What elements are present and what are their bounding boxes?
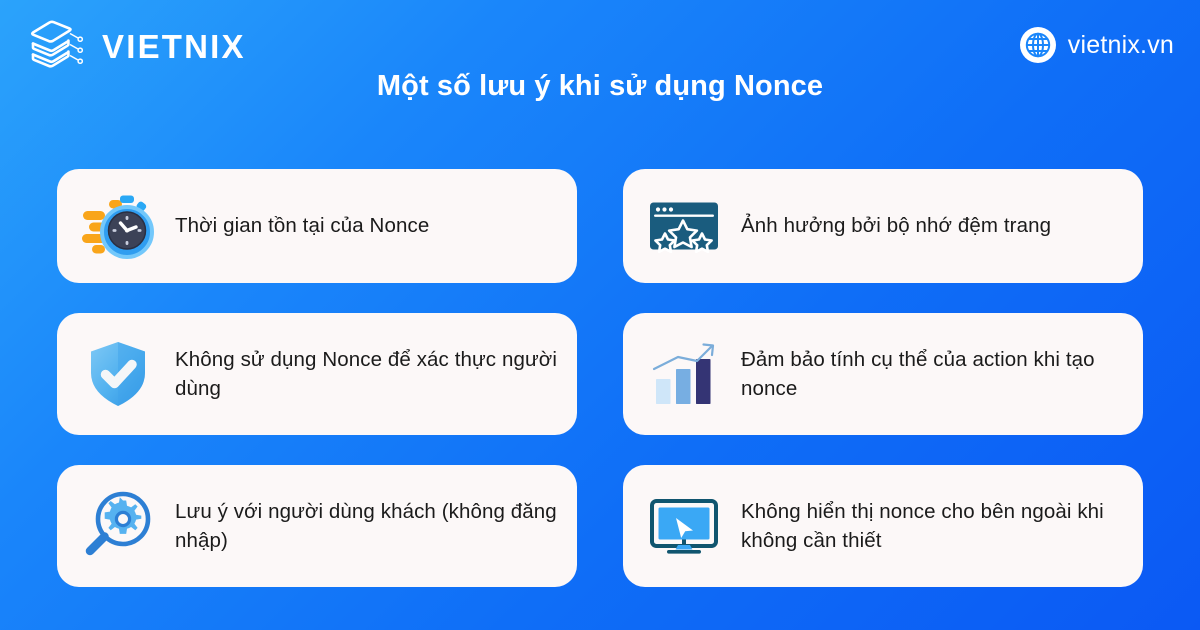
card-label: Không hiển thị nonce cho bên ngoài khi k…: [741, 497, 1129, 555]
card-item[interactable]: Đảm bảo tính cụ thể của action khi tạo n…: [623, 313, 1143, 435]
brand-name: VIETNIX: [102, 30, 246, 63]
card-item[interactable]: Ảnh hưởng bởi bộ nhớ đệm trang: [623, 169, 1143, 283]
monitor-cursor-icon: [645, 487, 723, 565]
brand-logo-group[interactable]: VIETNIX: [26, 17, 246, 75]
browser-stars-icon: [645, 187, 723, 265]
infographic-canvas: VIETNIX vietnix.vn Một số lưu ý khi sử d…: [0, 0, 1200, 630]
card-label: Ảnh hưởng bởi bộ nhớ đệm trang: [741, 211, 1051, 240]
card-item[interactable]: Thời gian tồn tại của Nonce: [57, 169, 577, 283]
card-label: Thời gian tồn tại của Nonce: [175, 211, 429, 240]
site-url-group[interactable]: vietnix.vn: [1019, 26, 1174, 64]
growth-chart-icon: [645, 335, 723, 413]
card-item[interactable]: Không sử dụng Nonce để xác thực người dù…: [57, 313, 577, 435]
card-label: Đảm bảo tính cụ thể của action khi tạo n…: [741, 345, 1129, 403]
vietnix-stack-logo-icon: [26, 17, 88, 75]
card-item[interactable]: Lưu ý với người dùng khách (không đăng n…: [57, 465, 577, 587]
header: VIETNIX vietnix.vn Một số lưu ý khi sử d…: [0, 0, 1200, 120]
card-item[interactable]: Không hiển thị nonce cho bên ngoài khi k…: [623, 465, 1143, 587]
stopwatch-icon: [79, 187, 157, 265]
card-label: Lưu ý với người dùng khách (không đăng n…: [175, 497, 563, 555]
globe-icon: [1019, 26, 1057, 64]
site-url-text: vietnix.vn: [1068, 33, 1174, 58]
card-label: Không sử dụng Nonce để xác thực người dù…: [175, 345, 563, 403]
page-title: Một số lưu ý khi sử dụng Nonce: [0, 70, 1200, 103]
cards-grid: Thời gian tồn tại của Nonce: [57, 169, 1143, 587]
magnifier-gear-icon: [79, 487, 157, 565]
shield-check-icon: [79, 335, 157, 413]
